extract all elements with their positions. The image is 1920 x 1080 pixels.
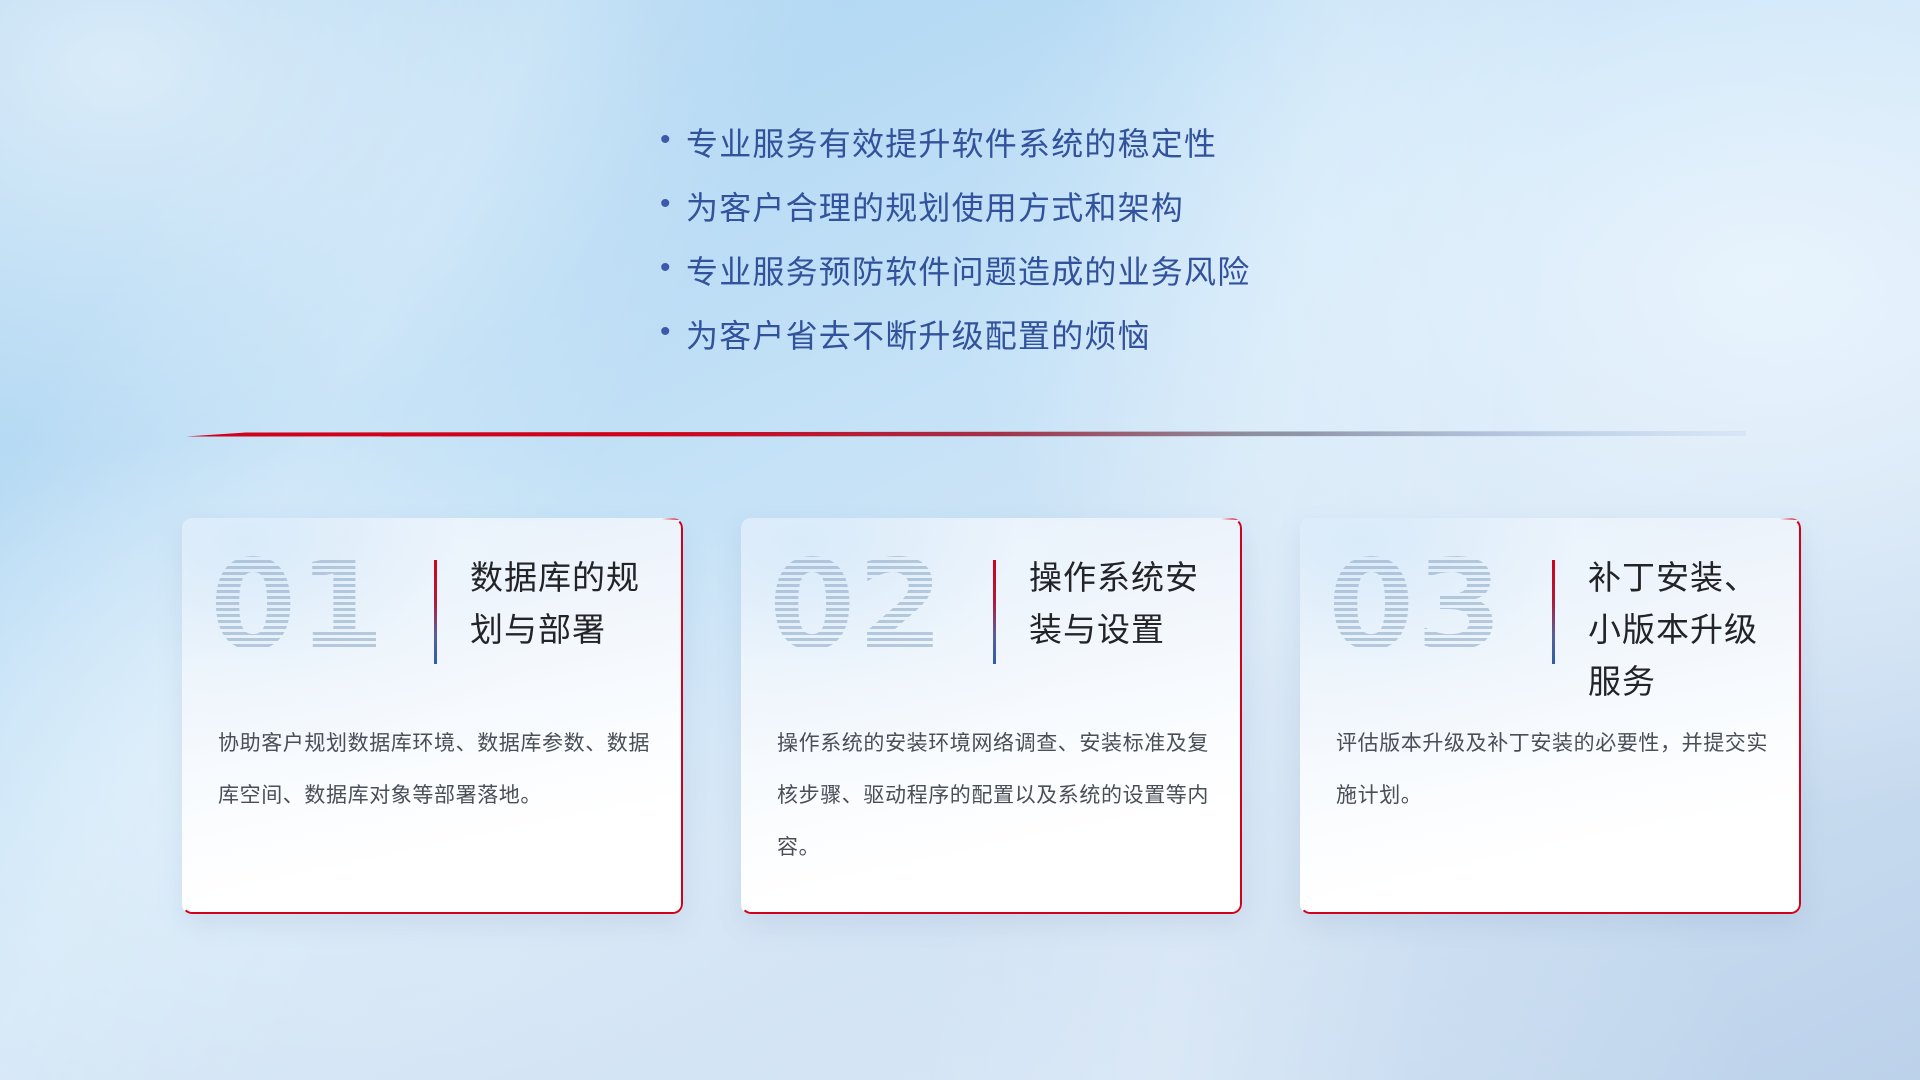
service-card[interactable]: 03 补丁安装、小版本升级服务 评估版本升级及补丁安装的必要性，并提交实施计划。: [1300, 518, 1801, 914]
bullet-text: 专业服务有效提升软件系统的稳定性: [686, 119, 1217, 165]
divider-line-icon: [186, 425, 1746, 443]
card-header: 01 数据库的规划与部署: [182, 518, 683, 714]
section-divider: [186, 425, 1746, 443]
card-index-number: 02: [769, 542, 979, 670]
card-title: 操作系统安装与设置: [1029, 552, 1229, 656]
card-description: 评估版本升级及补丁安装的必要性，并提交实施计划。: [1336, 718, 1771, 822]
card-header: 02 操作系统安装与设置: [741, 518, 1242, 714]
list-item: • 专业服务有效提升软件系统的稳定性: [660, 110, 1250, 174]
slide-canvas: • 专业服务有效提升软件系统的稳定性 • 为客户合理的规划使用方式和架构 • 专…: [0, 0, 1920, 1080]
benefits-bullet-list: • 专业服务有效提升软件系统的稳定性 • 为客户合理的规划使用方式和架构 • 专…: [660, 110, 1250, 366]
title-divider-rule: [993, 560, 996, 664]
bullet-text: 为客户合理的规划使用方式和架构: [686, 183, 1184, 229]
list-item: • 专业服务预防软件问题造成的业务风险: [660, 238, 1250, 302]
bullet-text: 为客户省去不断升级配置的烦恼: [686, 311, 1151, 357]
service-card[interactable]: 02 操作系统安装与设置 操作系统的安装环境网络调查、安装标准及复核步骤、驱动程…: [741, 518, 1242, 914]
service-card-row: 01 数据库的规划与部署 协助客户规划数据库环境、数据库参数、数据库空间、数据库…: [182, 518, 1802, 918]
bullet-dot-icon: •: [660, 317, 686, 347]
card-index-number: 03: [1328, 542, 1538, 670]
title-divider-rule: [1552, 560, 1555, 664]
card-description: 操作系统的安装环境网络调查、安装标准及复核步骤、驱动程序的配置以及系统的设置等内…: [777, 718, 1212, 874]
service-card[interactable]: 01 数据库的规划与部署 协助客户规划数据库环境、数据库参数、数据库空间、数据库…: [182, 518, 683, 914]
bullet-dot-icon: •: [660, 125, 686, 155]
title-divider-rule: [434, 560, 437, 664]
card-title: 补丁安装、小版本升级服务: [1588, 552, 1788, 708]
bullet-text: 专业服务预防软件问题造成的业务风险: [686, 247, 1250, 293]
card-title: 数据库的规划与部署: [470, 552, 670, 656]
list-item: • 为客户省去不断升级配置的烦恼: [660, 302, 1250, 366]
list-item: • 为客户合理的规划使用方式和架构: [660, 174, 1250, 238]
bullet-dot-icon: •: [660, 253, 686, 283]
bullet-dot-icon: •: [660, 189, 686, 219]
card-description: 协助客户规划数据库环境、数据库参数、数据库空间、数据库对象等部署落地。: [218, 718, 653, 822]
card-header: 03 补丁安装、小版本升级服务: [1300, 518, 1801, 714]
card-index-number: 01: [210, 542, 420, 670]
